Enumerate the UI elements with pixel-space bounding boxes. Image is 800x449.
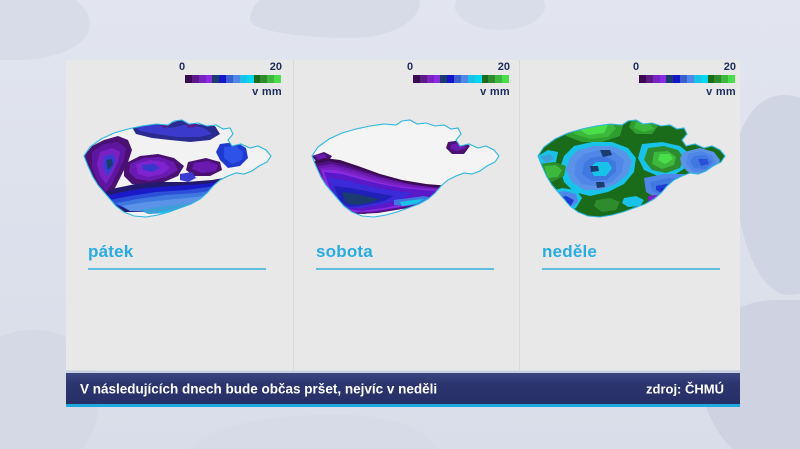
legend-colorbar	[413, 75, 509, 83]
background-map-shape	[250, 0, 420, 38]
legend-color-swatch-0	[639, 75, 646, 83]
day-underline-nedele	[542, 268, 720, 270]
legend-color-swatch-13	[728, 75, 735, 83]
legend-unit-label: v mm	[480, 85, 510, 99]
legend-color-swatch-1	[420, 75, 427, 83]
day-label-nedele: neděle	[542, 242, 597, 262]
legend-color-swatch-7	[687, 75, 694, 83]
weather-forecast-graphic: 0 20 v mm	[0, 0, 800, 449]
background-map-shape	[455, 0, 545, 30]
legend-color-swatch-13	[502, 75, 509, 83]
legend-ticks: 0 20	[399, 60, 511, 75]
legend-colorbar	[185, 75, 281, 83]
legend-color-swatch-0	[413, 75, 420, 83]
legend-color-swatch-3	[434, 75, 441, 83]
background-map-shape	[180, 415, 440, 449]
legend-max-label: 20	[724, 60, 736, 74]
forecast-day-nedele[interactable]: 0 20 v mm	[520, 60, 744, 370]
legend-color-swatch-5	[447, 75, 454, 83]
legend-color-swatch-10	[482, 75, 489, 83]
precipitation-map-patek	[70, 104, 286, 239]
legend-color-swatch-4	[440, 75, 447, 83]
legend-ticks: 0 20	[171, 60, 283, 75]
legend-color-swatch-4	[666, 75, 673, 83]
legend-color-swatch-9	[701, 75, 708, 83]
legend-color-swatch-3	[660, 75, 667, 83]
legend-color-swatch-12	[267, 75, 274, 83]
legend-color-swatch-1	[192, 75, 199, 83]
legend-color-swatch-2	[653, 75, 660, 83]
legend-color-swatch-13	[274, 75, 281, 83]
legend-color-swatch-2	[199, 75, 206, 83]
legend-color-swatch-8	[468, 75, 475, 83]
precipitation-map-sobota	[298, 104, 514, 239]
legend-patek: 0 20 v mm	[171, 60, 283, 104]
legend-color-swatch-11	[714, 75, 721, 83]
background-map-shape	[0, 0, 90, 60]
legend-color-swatch-11	[260, 75, 267, 83]
legend-color-swatch-5	[219, 75, 226, 83]
legend-color-swatch-1	[646, 75, 653, 83]
legend-max-label: 20	[270, 60, 282, 74]
caption-bar: V následujících dnech bude občas pršet, …	[66, 371, 740, 404]
legend-color-swatch-6	[226, 75, 233, 83]
legend-color-swatch-7	[461, 75, 468, 83]
caption-source: zdroj: ČHMÚ	[646, 381, 724, 396]
legend-min-label: 0	[407, 60, 413, 74]
legend-color-swatch-6	[680, 75, 687, 83]
legend-color-swatch-8	[240, 75, 247, 83]
legend-min-label: 0	[179, 60, 185, 74]
legend-color-swatch-8	[694, 75, 701, 83]
legend-color-swatch-3	[206, 75, 213, 83]
day-label-patek: pátek	[88, 242, 133, 262]
legend-color-swatch-0	[185, 75, 192, 83]
legend-max-label: 20	[498, 60, 510, 74]
legend-color-swatch-10	[708, 75, 715, 83]
background-map-shape	[735, 95, 800, 295]
legend-nedele: 0 20 v mm	[625, 60, 737, 104]
legend-color-swatch-12	[495, 75, 502, 83]
legend-color-swatch-5	[673, 75, 680, 83]
legend-min-label: 0	[633, 60, 639, 74]
forecast-panel: 0 20 v mm	[66, 60, 740, 370]
forecast-day-patek[interactable]: 0 20 v mm	[66, 60, 290, 370]
day-label-sobota: sobota	[316, 242, 373, 262]
legend-color-swatch-10	[254, 75, 261, 83]
legend-color-swatch-11	[488, 75, 495, 83]
legend-color-swatch-9	[247, 75, 254, 83]
legend-color-swatch-4	[212, 75, 219, 83]
legend-color-swatch-12	[721, 75, 728, 83]
day-underline-patek	[88, 268, 266, 270]
legend-ticks: 0 20	[625, 60, 737, 75]
legend-unit-label: v mm	[252, 85, 282, 99]
legend-color-swatch-9	[475, 75, 482, 83]
legend-color-swatch-6	[454, 75, 461, 83]
forecast-day-sobota[interactable]: 0 20 v mm	[294, 60, 518, 370]
day-underline-sobota	[316, 268, 494, 270]
legend-unit-label: v mm	[706, 85, 736, 99]
legend-color-swatch-2	[427, 75, 434, 83]
legend-sobota: 0 20 v mm	[399, 60, 511, 104]
legend-color-swatch-7	[233, 75, 240, 83]
legend-colorbar	[639, 75, 735, 83]
caption-headline: V následujících dnech bude občas pršet, …	[80, 381, 437, 396]
precipitation-map-nedele	[524, 104, 740, 239]
